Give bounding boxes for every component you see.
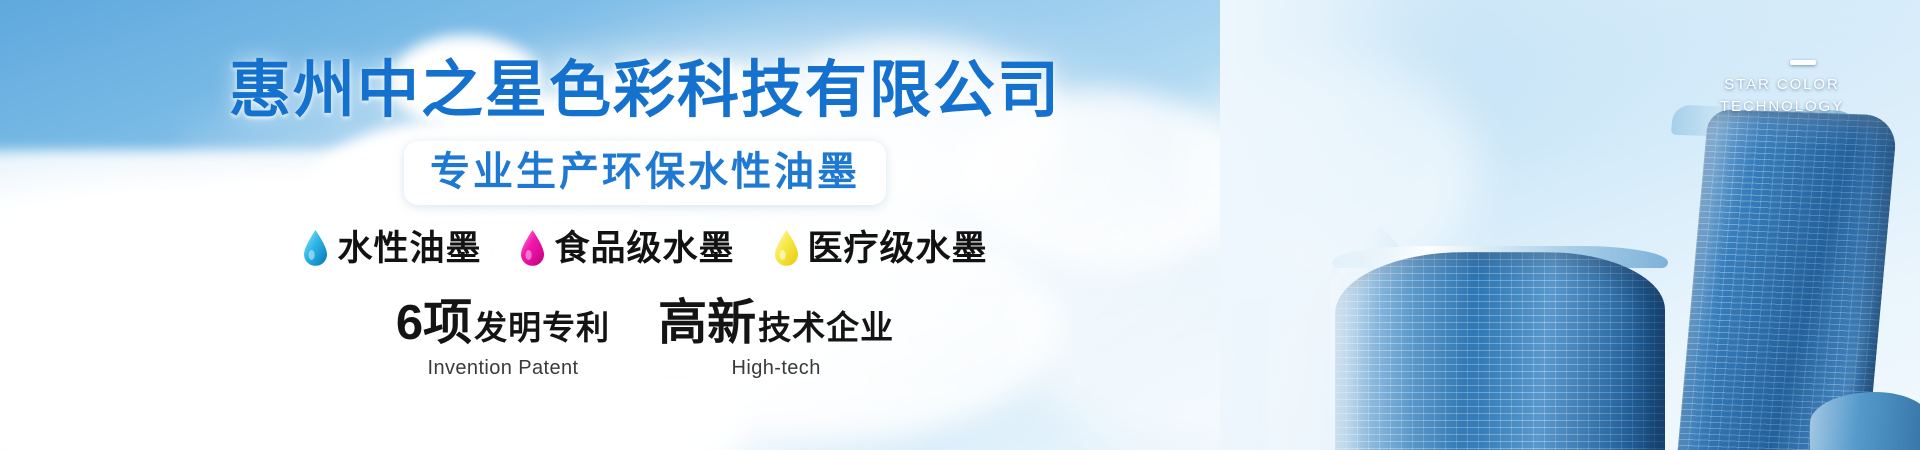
- credential-english: High-tech: [732, 357, 821, 380]
- credential-highlight: 6项: [396, 299, 472, 348]
- banner-content: 惠州中之星色彩科技有限公司 专业生产环保水性油墨: [0, 0, 1290, 450]
- building-main-tower: [1335, 252, 1665, 450]
- credential-detail: 技术企业: [758, 311, 894, 344]
- building-brand-logo: STAR COLOR TECHNOLOGY: [1702, 74, 1862, 118]
- credential-chinese: 6项 发明专利: [396, 299, 610, 348]
- skyscraper-photo-region: [1220, 0, 1920, 450]
- building-logo-line1: STAR COLOR: [1702, 74, 1862, 96]
- credential-chinese: 高新 技术企业: [658, 299, 894, 348]
- credential-item-high-tech: 高新 技术企业 High-tech: [658, 299, 894, 380]
- feature-label: 食品级水墨: [554, 231, 734, 266]
- water-droplet-icon: [773, 229, 800, 267]
- water-droplet-icon: [302, 229, 329, 267]
- feature-list: 水性油墨: [302, 229, 987, 267]
- subtitle-badge: 专业生产环保水性油墨: [404, 141, 886, 205]
- credential-english: Invention Patent: [428, 357, 579, 380]
- credential-detail: 发明专利: [474, 311, 610, 344]
- company-hero-banner: Star Color STAR COLOR TECHNOLOGY 惠州中之星色彩…: [0, 0, 1920, 450]
- credential-list: 6项 发明专利 Invention Patent 高新 技术企业 High-te…: [396, 299, 894, 380]
- building-logo-line2: TECHNOLOGY: [1702, 96, 1862, 118]
- credential-item-invention-patent: 6项 发明专利 Invention Patent: [396, 299, 610, 380]
- feature-label: 水性油墨: [337, 231, 481, 266]
- water-droplet-icon: [519, 229, 546, 267]
- feature-item-food-grade-ink: 食品级水墨: [519, 229, 734, 267]
- feature-item-medical-grade-ink: 医疗级水墨: [773, 229, 988, 267]
- feature-item-water-based-ink: 水性油墨: [302, 229, 481, 267]
- feature-label: 医疗级水墨: [808, 231, 988, 266]
- page-title: 惠州中之星色彩科技有限公司: [229, 58, 1061, 123]
- credential-highlight: 高新: [658, 299, 756, 348]
- building-logo-dash-icon: [1790, 60, 1816, 65]
